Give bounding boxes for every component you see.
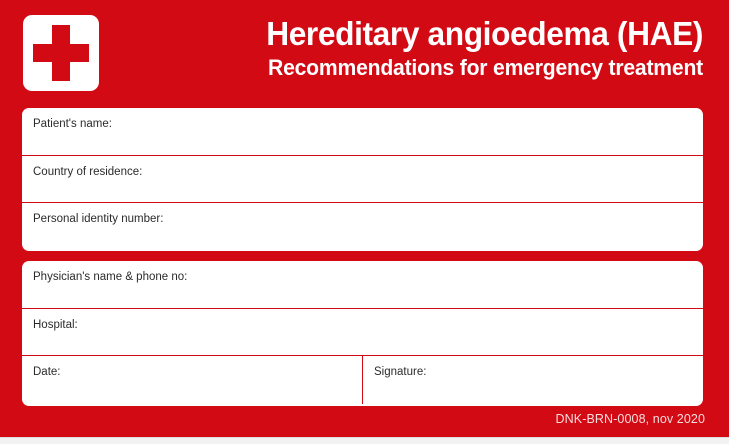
page-bottom-strip xyxy=(0,437,729,444)
field-patients-name[interactable]: Patient's name: xyxy=(22,108,703,155)
red-cross-horizontal-bar xyxy=(33,44,89,62)
field-label: Date: xyxy=(33,365,61,379)
field-label: Country of residence: xyxy=(33,165,142,179)
card-header: Hereditary angioedema (HAE) Recommendati… xyxy=(0,0,729,102)
red-cross-icon xyxy=(23,15,99,91)
patients-name-input[interactable] xyxy=(33,132,695,152)
field-personal-identity-number[interactable]: Personal identity number: xyxy=(22,203,703,251)
table-row: Personal identity number: xyxy=(22,203,703,251)
page-subtitle: Recommendations for emergency treatment xyxy=(266,54,703,82)
field-label: Hospital: xyxy=(33,318,78,332)
physicians-name-and-phone-input[interactable] xyxy=(33,285,695,305)
field-label: Personal identity number: xyxy=(33,212,163,226)
table-row: Patient's name: xyxy=(22,108,703,156)
table-row: Hospital: xyxy=(22,309,703,357)
hospital-input[interactable] xyxy=(33,333,695,353)
title-block: Hereditary angioedema (HAE) Recommendati… xyxy=(248,14,703,82)
field-country-of-residence[interactable]: Country of residence: xyxy=(22,156,703,203)
document-reference: DNK-BRN-0008, nov 2020 xyxy=(556,412,706,426)
signature-input[interactable] xyxy=(374,380,695,400)
field-signature[interactable]: Signature: xyxy=(363,356,703,404)
table-row: Date: Signature: xyxy=(22,356,703,404)
page-title: Hereditary angioedema (HAE) xyxy=(266,14,703,54)
field-label: Physician's name & phone no: xyxy=(33,270,187,284)
country-of-residence-input[interactable] xyxy=(33,180,695,200)
date-input[interactable] xyxy=(33,380,354,400)
hae-emergency-card: Hereditary angioedema (HAE) Recommendati… xyxy=(0,0,729,437)
field-hospital[interactable]: Hospital: xyxy=(22,309,703,356)
physician-details-block: Physician's name & phone no: Hospital: D… xyxy=(22,261,703,406)
field-date[interactable]: Date: xyxy=(22,356,363,404)
field-label: Patient's name: xyxy=(33,117,112,131)
field-physicians-name-and-phone[interactable]: Physician's name & phone no: xyxy=(22,261,703,308)
patient-details-block: Patient's name: Country of residence: Pe… xyxy=(22,108,703,251)
field-label: Signature: xyxy=(374,365,426,379)
table-row: Physician's name & phone no: xyxy=(22,261,703,309)
table-row: Country of residence: xyxy=(22,156,703,204)
personal-identity-number-input[interactable] xyxy=(33,227,695,247)
